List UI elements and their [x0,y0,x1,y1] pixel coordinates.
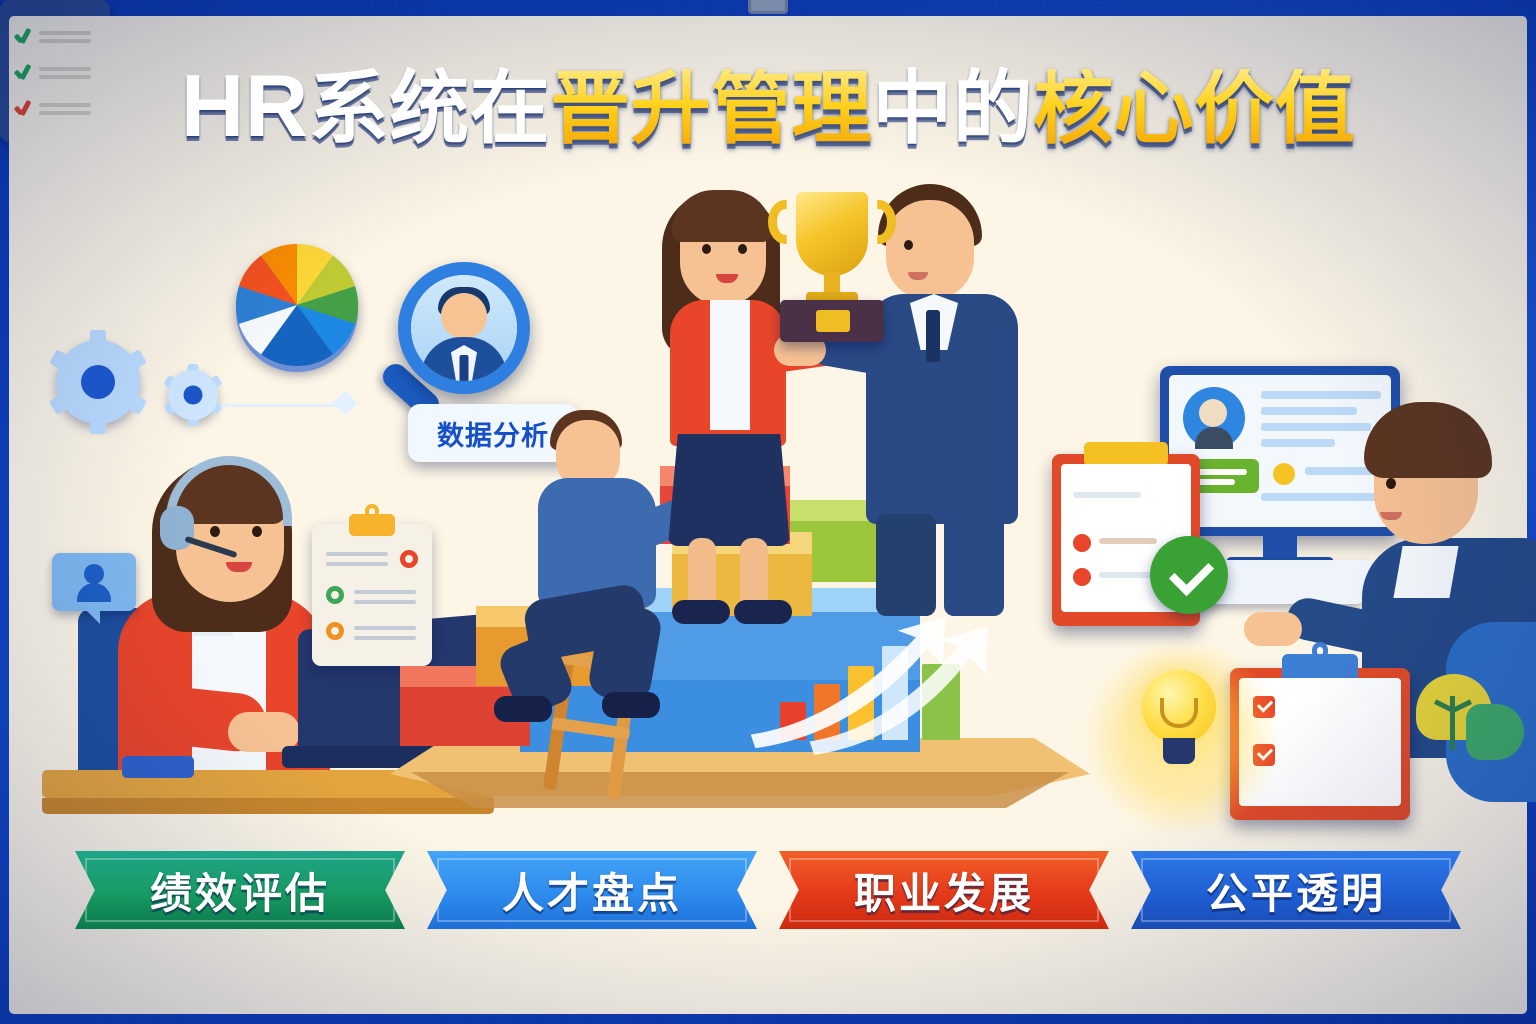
title-part-hexinjiazhi: 核心价值 [1033,69,1355,149]
bulb-base [1163,738,1195,764]
growth-bar-chart [780,630,1010,740]
ribbon-label: 人才盘点 [502,860,682,921]
poster-title: HR系统在晋升管理中的核心价值 [0,62,1536,150]
infographic-poster: HR系统在晋升管理中的核心价值 [0,0,1536,1024]
title-part-xitongzai: 系统在 [309,69,551,149]
chat-bubble-user-icon [52,553,136,611]
ribbon-label: 绩效评估 [150,860,330,921]
green-check-badge-icon [1150,536,1228,614]
pie-chart-icon [236,244,358,366]
ribbon-talent-review[interactable]: 人才盘点 [427,851,757,929]
title-part-hr: HR [181,62,309,150]
ribbon-career-development[interactable]: 职业发展 [779,851,1109,929]
magnifier-profile-icon [398,262,530,394]
ribbon-performance-review[interactable]: 绩效评估 [75,851,405,929]
avatar-head [441,293,487,339]
avatar-tie [460,355,469,381]
ribbon-label: 职业发展 [854,860,1034,921]
check-icon [15,28,31,44]
connector-line [222,404,342,407]
gear-icon-small [168,370,218,420]
status-dot-yellow [1273,463,1295,485]
center-podium-scene [380,420,1100,860]
headset-earcup [160,506,194,550]
ribbon-row: 绩效评估 人才盘点 职业发展 公平透明 [0,851,1536,929]
title-part-jinsheng: 晋升管理 [550,69,872,149]
title-part-zhongde: 中的 [872,69,1033,149]
smartphone-icon [122,756,194,778]
platform-base-shadow [390,772,1090,808]
ribbon-label: 公平透明 [1206,860,1386,921]
gold-trophy-icon [762,188,902,348]
clipboard-clip [748,0,788,14]
reviewer-scene [1120,350,1536,820]
gear-icon [56,340,140,424]
growth-tree-icon [1406,670,1526,790]
ribbon-fair-transparent[interactable]: 公平透明 [1131,851,1461,929]
